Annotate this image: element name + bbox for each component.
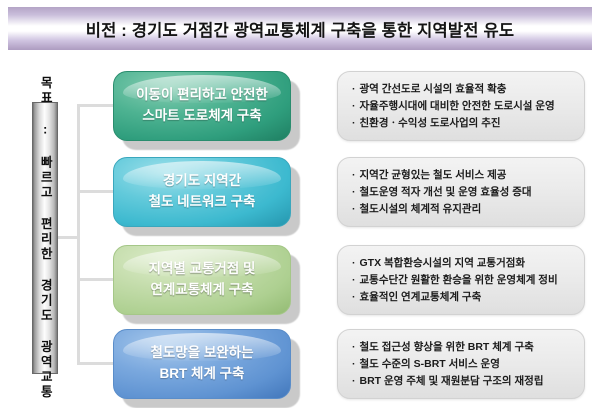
strategy-row: 지역별 교통거점 및 연계교통체계 구축 · GTX 복합환승시설의 지역 교통… xyxy=(0,245,600,315)
detail-bullet-item: · 철도 접근성 향상을 위한 BRT 체계 구축 xyxy=(352,339,576,356)
detail-bullet-item: · 철도운영 적자 개선 및 운영 효율성 증대 xyxy=(352,184,576,201)
strategy-box-road[interactable]: 이동이 편리하고 안전한 스마트 도로체계 구축 xyxy=(113,71,291,141)
detail-bullet-text: 철도 수준의 S-BRT 서비스 운영 xyxy=(360,356,500,373)
strategy-row: 철도망을 보완하는 BRT 체계 구축 · 철도 접근성 향상을 위한 BRT … xyxy=(0,329,600,399)
strategy-box-wrap-3: 지역별 교통거점 및 연계교통체계 구축 xyxy=(113,245,291,315)
detail-bullet-item: · 자율주행시대에 대비한 안전한 도로시설 운영 xyxy=(352,98,576,115)
strategy-label-line2: 스마트 도로체계 구축 xyxy=(142,106,261,127)
bullet-dot-icon: · xyxy=(352,373,356,390)
strategy-label-line2: 연계교통체계 구축 xyxy=(150,280,253,301)
detail-bullet-item: · GTX 복합환승시설의 지역 교통거점화 xyxy=(352,255,576,272)
strategy-label-line2: BRT 체계 구축 xyxy=(160,364,245,385)
strategy-label-line1: 지역별 교통거점 및 xyxy=(149,259,256,280)
bullet-dot-icon: · xyxy=(352,356,356,373)
connector-goal-stem xyxy=(58,236,79,239)
bullet-dot-icon: · xyxy=(352,98,356,115)
detail-bullet-item: · 철도시설의 체계적 유지관리 xyxy=(352,201,576,218)
bullet-dot-icon: · xyxy=(352,289,356,306)
strategy-box-wrap-1: 이동이 편리하고 안전한 스마트 도로체계 구축 xyxy=(113,71,291,141)
bullet-dot-icon: · xyxy=(352,201,356,218)
detail-bullet-text: 교통수단간 원활한 환승을 위한 운영체계 정비 xyxy=(360,272,558,289)
detail-bullet-text: 효율적인 연계교통체계 구축 xyxy=(360,289,482,306)
strategy-box-wrap-4: 철도망을 보완하는 BRT 체계 구축 xyxy=(113,329,291,399)
detail-panel-brt: · 철도 접근성 향상을 위한 BRT 체계 구축 · 철도 수준의 S-BRT… xyxy=(337,329,585,399)
bullet-dot-icon: · xyxy=(352,115,356,132)
detail-panel-rail: · 지역간 균형있는 철도 서비스 제공 · 철도운영 적자 개선 및 운영 효… xyxy=(337,157,585,227)
detail-bullet-item: · 친환경ㆍ수익성 도로사업의 추진 xyxy=(352,115,576,132)
detail-bullet-item: · 교통수단간 원활한 환승을 위한 운영체계 정비 xyxy=(352,272,576,289)
vision-title-banner: 비전 : 경기도 거점간 광역교통체계 구축을 통한 지역발전 유도 xyxy=(8,7,592,50)
strategy-box-rail[interactable]: 경기도 지역간 철도 네트워크 구축 xyxy=(113,157,291,227)
strategy-box-wrap-2: 경기도 지역간 철도 네트워크 구축 xyxy=(113,157,291,227)
strategy-box-brt[interactable]: 철도망을 보완하는 BRT 체계 구축 xyxy=(113,329,291,399)
connector-trunk-line xyxy=(77,104,80,364)
bullet-dot-icon: · xyxy=(352,81,356,98)
strategy-label-line1: 철도망을 보완하는 xyxy=(150,343,253,364)
strategy-row: 이동이 편리하고 안전한 스마트 도로체계 구축 · 광역 간선도로 시설의 효… xyxy=(0,71,600,141)
detail-panel-road: · 광역 간선도로 시설의 효율적 확충 · 자율주행시대에 대비한 안전한 도… xyxy=(337,71,585,141)
detail-bullet-text: GTX 복합환승시설의 지역 교통거점화 xyxy=(360,255,526,272)
detail-bullet-item: · 철도 수준의 S-BRT 서비스 운영 xyxy=(352,356,576,373)
strategy-row: 경기도 지역간 철도 네트워크 구축 · 지역간 균형있는 철도 서비스 제공 … xyxy=(0,157,600,227)
detail-bullet-text: 광역 간선도로 시설의 효율적 확충 xyxy=(360,81,507,98)
strategy-label-line1: 이동이 편리하고 안전한 xyxy=(136,85,268,106)
strategy-box-hub[interactable]: 지역별 교통거점 및 연계교통체계 구축 xyxy=(113,245,291,315)
detail-bullet-text: 철도 접근성 향상을 위한 BRT 체계 구축 xyxy=(360,339,534,356)
detail-bullet-item: · 효율적인 연계교통체계 구축 xyxy=(352,289,576,306)
detail-panel-hub: · GTX 복합환승시설의 지역 교통거점화 · 교통수단간 원활한 환승을 위… xyxy=(337,245,585,315)
bullet-dot-icon: · xyxy=(352,339,356,356)
detail-bullet-item: · 지역간 균형있는 철도 서비스 제공 xyxy=(352,167,576,184)
bullet-dot-icon: · xyxy=(352,167,356,184)
strategy-label-line2: 철도 네트워크 구축 xyxy=(149,192,256,213)
bullet-dot-icon: · xyxy=(352,255,356,272)
strategy-label-line1: 경기도 지역간 xyxy=(163,171,241,192)
detail-bullet-text: BRT 운영 주체 및 재원분담 구조의 재정립 xyxy=(360,373,544,390)
vision-title-text: 비전 : 경기도 거점간 광역교통체계 구축을 통한 지역발전 유도 xyxy=(86,17,514,41)
bullet-dot-icon: · xyxy=(352,272,356,289)
detail-bullet-item: · BRT 운영 주체 및 재원분담 구조의 재정립 xyxy=(352,373,576,390)
detail-bullet-text: 자율주행시대에 대비한 안전한 도로시설 운영 xyxy=(360,98,555,115)
detail-bullet-item: · 광역 간선도로 시설의 효율적 확충 xyxy=(352,81,576,98)
bullet-dot-icon: · xyxy=(352,184,356,201)
detail-bullet-text: 철도운영 적자 개선 및 운영 효율성 증대 xyxy=(360,184,532,201)
detail-bullet-text: 철도시설의 체계적 유지관리 xyxy=(360,201,482,218)
detail-bullet-text: 친환경ㆍ수익성 도로사업의 추진 xyxy=(360,115,501,132)
detail-bullet-text: 지역간 균형있는 철도 서비스 제공 xyxy=(360,167,507,184)
